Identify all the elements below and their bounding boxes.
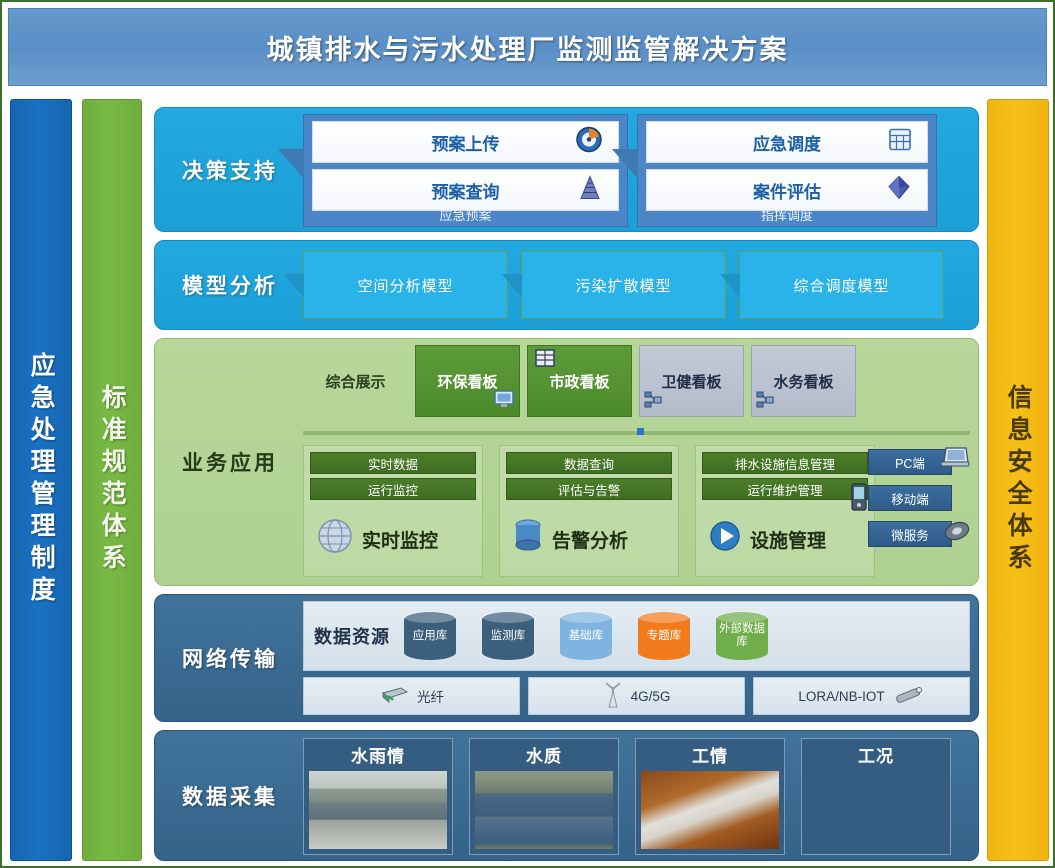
architecture-diagram: 城镇排水与污水处理厂监测监管解决方案 应急处理管理制度 标准规范体系 信息安全体… (0, 0, 1055, 868)
window-icon (534, 348, 556, 372)
dashboard-tab-bar: 综合展示 环保看板 市政看板 (303, 345, 970, 417)
laptop-icon (940, 445, 970, 474)
button-operation-monitoring[interactable]: 运行监控 (310, 478, 476, 500)
button-realtime-data[interactable]: 实时数据 (310, 452, 476, 474)
pillar-standard-system: 标准规范体系 (82, 99, 142, 861)
data-resource-panel: 数据资源 应用库 监测库 基础库 专题库 外部数据库 (303, 601, 970, 671)
card-emergency-dispatch-label: 应急调度 (753, 130, 821, 155)
feature-alarm-analysis-label: 告警分析 (552, 526, 628, 553)
card-plan-upload-label: 预案上传 (432, 130, 500, 155)
data-resource-label: 数据资源 (314, 623, 390, 649)
network-link-lora[interactable]: LORA/NB-IOT (753, 677, 970, 715)
pillar-standard-label: 标准规范体系 (99, 384, 125, 576)
play-circle-icon (706, 517, 744, 561)
database-thematic-label: 专题库 (647, 630, 682, 643)
database-external[interactable]: 外部数据库 (716, 612, 768, 660)
tab-environment-board[interactable]: 环保看板 (415, 345, 520, 417)
terminal-list: PC端 移动端 (862, 445, 970, 577)
decision-group-command-dispatch-sublabel: 指挥调度 (638, 204, 936, 224)
layer-data-collection: 数据采集 水雨情 水质 工情 工况 (154, 730, 979, 861)
tab-overview-label: 综合展示 (325, 371, 385, 392)
layer-model-analysis-label: 模型分析 (155, 241, 305, 329)
grid-table-icon (887, 127, 913, 158)
antenna-icon (603, 681, 623, 712)
network-link-list: 光纤 4G/5G LORA/NB-IOT (303, 677, 970, 715)
layer-decision-support: 决策支持 预案上传 预案查询 (154, 107, 979, 232)
button-assessment-alarm[interactable]: 评估与告警 (506, 478, 672, 500)
dashboard-divider (303, 431, 970, 435)
button-assessment-alarm-label: 评估与告警 (558, 480, 621, 499)
card-plan-query-label: 预案查询 (432, 178, 500, 203)
data-card-water-quality-label: 水质 (470, 739, 618, 769)
decision-group-emergency-plan-sublabel: 应急预案 (304, 204, 627, 224)
tab-health-board[interactable]: 卫健看板 (639, 345, 744, 417)
page-title: 城镇排水与污水处理厂监测监管解决方案 (267, 28, 789, 67)
data-card-engineering-photo (641, 771, 779, 849)
business-column-monitoring: 实时数据 运行监控 实时监控 (303, 445, 483, 577)
database-icon (510, 516, 546, 562)
terminal-microservice[interactable]: 微服务 (868, 521, 952, 547)
database-thematic[interactable]: 专题库 (638, 612, 690, 660)
terminal-microservice-label: 微服务 (891, 525, 929, 544)
database-basic[interactable]: 基础库 (560, 612, 612, 660)
network-link-fiber[interactable]: 光纤 (303, 677, 520, 715)
card-plan-upload[interactable]: 预案上传 (312, 121, 619, 163)
feature-facility-management-label: 设施管理 (750, 526, 826, 553)
node-tree-icon (756, 391, 774, 413)
fiber-icon (379, 685, 409, 708)
pyramid-icon (576, 174, 604, 207)
layer-network-transmission-label: 网络传输 (155, 595, 305, 721)
data-card-operating-condition[interactable]: 工况 (801, 738, 951, 855)
button-operation-monitoring-label: 运行监控 (368, 480, 418, 499)
globe-icon (314, 515, 356, 563)
layer-business-application: 业务应用 综合展示 环保看板 市政看板 (154, 338, 979, 586)
button-data-query-label: 数据查询 (564, 454, 614, 473)
model-card-pollution-diffusion-label: 污染扩散模型 (575, 275, 671, 296)
data-card-engineering-label: 工情 (636, 739, 784, 769)
terminal-pc-label: PC端 (895, 453, 925, 472)
network-link-cellular[interactable]: 4G/5G (528, 677, 745, 715)
database-monitoring-label: 监测库 (491, 630, 526, 643)
data-card-rainfall-photo (309, 771, 447, 849)
layer-network-transmission: 网络传输 数据资源 应用库 监测库 基础库 专题库 外部数据库 (154, 594, 979, 722)
data-card-rainfall-label: 水雨情 (304, 739, 452, 769)
data-card-water-quality[interactable]: 水质 (469, 738, 619, 855)
tab-water-board[interactable]: 水务看板 (751, 345, 856, 417)
database-basic-label: 基础库 (569, 630, 604, 643)
clock-gauge-icon (574, 125, 604, 160)
model-card-integrated-dispatch[interactable]: 综合调度模型 (739, 251, 944, 319)
layer-data-collection-label: 数据采集 (155, 731, 305, 860)
data-card-engineering[interactable]: 工情 (635, 738, 785, 855)
gear-icon (942, 517, 972, 550)
feature-realtime-monitoring[interactable]: 实时监控 (310, 508, 476, 570)
button-maintenance-management[interactable]: 运行维护管理 (702, 478, 868, 500)
button-realtime-data-label: 实时数据 (368, 454, 418, 473)
button-data-query[interactable]: 数据查询 (506, 452, 672, 474)
button-drainage-facility-info-label: 排水设施信息管理 (735, 454, 835, 473)
card-case-assessment-label: 案件评估 (753, 178, 821, 203)
pillar-emergency-management: 应急处理管理制度 (10, 99, 72, 861)
tab-municipal-board-label: 市政看板 (549, 371, 609, 392)
tab-water-board-label: 水务看板 (773, 371, 833, 392)
model-card-spatial-label: 空间分析模型 (357, 275, 453, 296)
feature-facility-management[interactable]: 设施管理 (702, 508, 868, 570)
card-emergency-dispatch[interactable]: 应急调度 (646, 121, 928, 163)
network-link-fiber-label: 光纤 (417, 686, 444, 706)
data-card-rainfall[interactable]: 水雨情 (303, 738, 453, 855)
terminal-mobile-label: 移动端 (891, 489, 929, 508)
decision-group-emergency-plan: 预案上传 预案查询 (303, 114, 628, 227)
database-application-label: 应用库 (413, 630, 448, 643)
phone-icon (850, 483, 868, 516)
button-maintenance-management-label: 运行维护管理 (747, 480, 822, 499)
decision-group-command-dispatch: 应急调度 案件评估 (637, 114, 937, 227)
terminal-mobile[interactable]: 移动端 (868, 485, 952, 511)
data-card-water-quality-photo (475, 771, 613, 849)
sensor-icon (893, 685, 925, 708)
network-link-lora-label: LORA/NB-IOT (798, 689, 884, 704)
model-card-pollution-diffusion[interactable]: 污染扩散模型 (521, 251, 726, 319)
feature-realtime-monitoring-label: 实时监控 (362, 526, 438, 553)
network-link-cellular-label: 4G/5G (631, 689, 671, 704)
button-drainage-facility-info[interactable]: 排水设施信息管理 (702, 452, 868, 474)
layer-model-analysis: 模型分析 空间分析模型 污染扩散模型 综合调度模型 (154, 240, 979, 330)
pillar-information-security: 信息安全体系 (987, 99, 1049, 861)
database-external-label: 外部数据库 (716, 623, 768, 648)
tab-environment-board-label: 环保看板 (437, 371, 497, 392)
business-column-alarm: 数据查询 评估与告警 告警分析 (499, 445, 679, 577)
tab-municipal-board[interactable]: 市政看板 (527, 345, 632, 417)
model-card-integrated-dispatch-label: 综合调度模型 (793, 275, 889, 296)
feature-alarm-analysis[interactable]: 告警分析 (506, 508, 672, 570)
layer-business-application-label: 业务应用 (155, 339, 305, 585)
database-monitoring[interactable]: 监测库 (482, 612, 534, 660)
database-application[interactable]: 应用库 (404, 612, 456, 660)
pillar-security-label: 信息安全体系 (1005, 384, 1031, 576)
pillar-emergency-label: 应急处理管理制度 (28, 352, 54, 608)
business-column-facility: 排水设施信息管理 运行维护管理 设施管理 (695, 445, 875, 577)
data-card-operating-condition-label: 工况 (802, 739, 950, 769)
tab-health-board-label: 卫健看板 (661, 371, 721, 392)
diamond-icon (885, 174, 913, 207)
node-tree-icon (644, 391, 662, 413)
monitor-icon (493, 389, 515, 413)
model-card-spatial[interactable]: 空间分析模型 (303, 251, 508, 319)
tab-overview[interactable]: 综合展示 (303, 345, 408, 417)
page-title-bar: 城镇排水与污水处理厂监测监管解决方案 (8, 8, 1047, 86)
